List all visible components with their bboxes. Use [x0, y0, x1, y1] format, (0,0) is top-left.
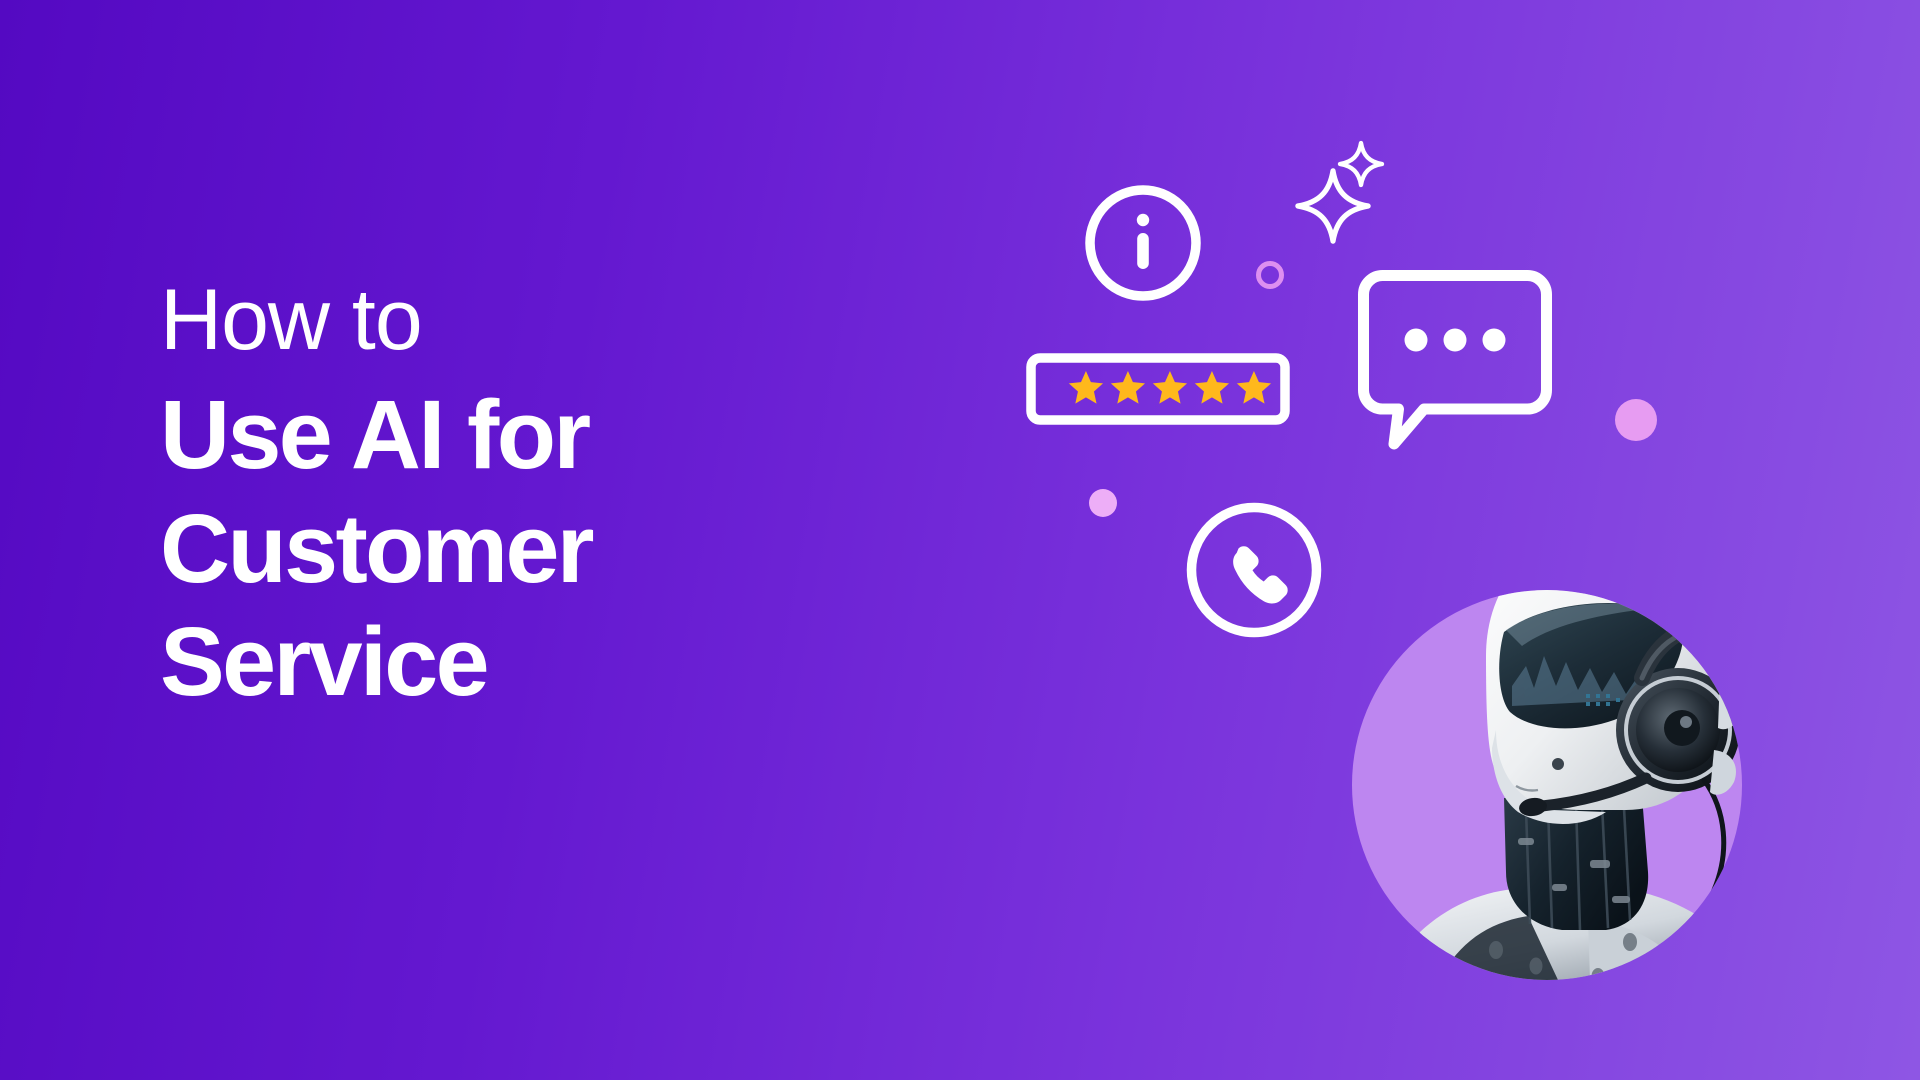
info-icon [1083, 183, 1203, 303]
chat-dot [1405, 329, 1428, 352]
chat-dot [1483, 329, 1506, 352]
title-line-1: Use AI for [160, 380, 589, 489]
pink-ring-icon [1256, 261, 1284, 289]
rating-value: 5 [1290, 353, 1291, 354]
kicker-text: How to [160, 278, 820, 362]
chat-dot [1444, 329, 1467, 352]
page-title: Use AI for Customer Service [160, 378, 820, 718]
sparkle-icon [1337, 140, 1385, 188]
robot-clip [1352, 590, 1742, 980]
chat-bubble-icon [1358, 270, 1552, 450]
pink-dot-small [1089, 489, 1117, 517]
hero-banner: How to Use AI for Customer Service [0, 0, 1920, 1080]
pink-dot-large [1615, 399, 1657, 441]
star-icon [1069, 371, 1271, 404]
headline-block: How to Use AI for Customer Service [160, 278, 820, 719]
star-rating-card: 5 [1026, 353, 1290, 425]
title-line-2: Customer [160, 494, 592, 603]
robot-alt-text: AI customer service robot with headset [1352, 480, 1353, 481]
robot-illustration: AI customer service robot with headset [1352, 480, 1742, 880]
title-line-3: Service [160, 607, 487, 716]
phone-icon [1184, 500, 1324, 640]
